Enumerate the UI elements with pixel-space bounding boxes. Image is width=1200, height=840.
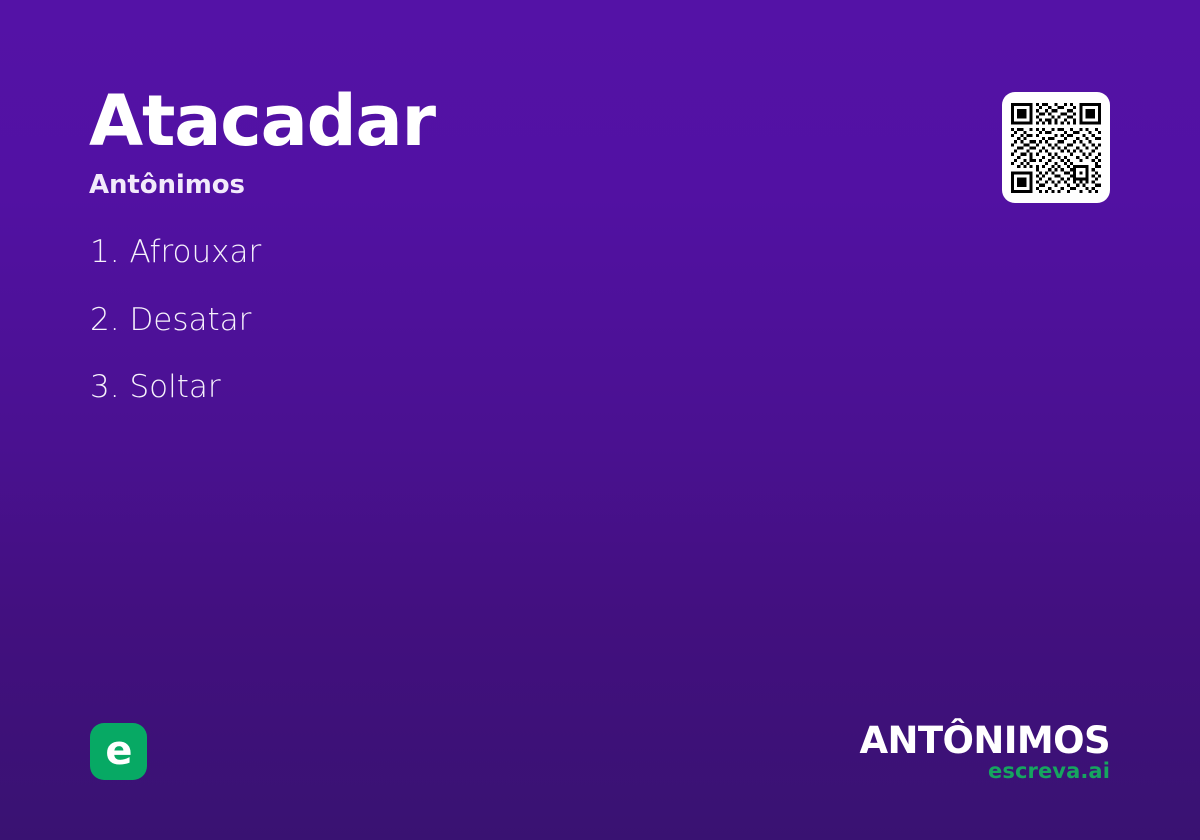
brand-name: ANTÔNIMOS xyxy=(850,722,1110,759)
list-item-label: Afrouxar xyxy=(129,234,261,270)
list-item-index: 2. xyxy=(90,302,120,338)
list-item-label: Desatar xyxy=(129,302,251,338)
app-logo-mark[interactable]: e xyxy=(90,723,147,780)
headline-block: Atacadar Antônimos xyxy=(89,86,909,198)
word-card: Atacadar Antônimos 1. Afrouxar 2. Desata… xyxy=(0,0,1200,840)
list-item-label: Soltar xyxy=(129,369,220,405)
list-item-index: 1. xyxy=(90,234,120,270)
qr-code-icon xyxy=(1011,103,1101,193)
brand-domain: escreva.ai xyxy=(850,761,1110,782)
category-label: Antônimos xyxy=(89,172,909,198)
antonym-list: 1. Afrouxar 2. Desatar 3. Soltar xyxy=(90,236,870,439)
list-item-index: 3. xyxy=(90,369,120,405)
list-item: 1. Afrouxar xyxy=(90,236,870,269)
list-item: 3. Soltar xyxy=(90,371,870,404)
app-logo-letter: e xyxy=(105,731,131,771)
brand-lockup: ANTÔNIMOS escreva.ai xyxy=(850,722,1110,782)
page-title: Atacadar xyxy=(89,86,909,156)
list-item: 2. Desatar xyxy=(90,304,870,337)
qr-code-panel[interactable] xyxy=(1002,92,1110,203)
